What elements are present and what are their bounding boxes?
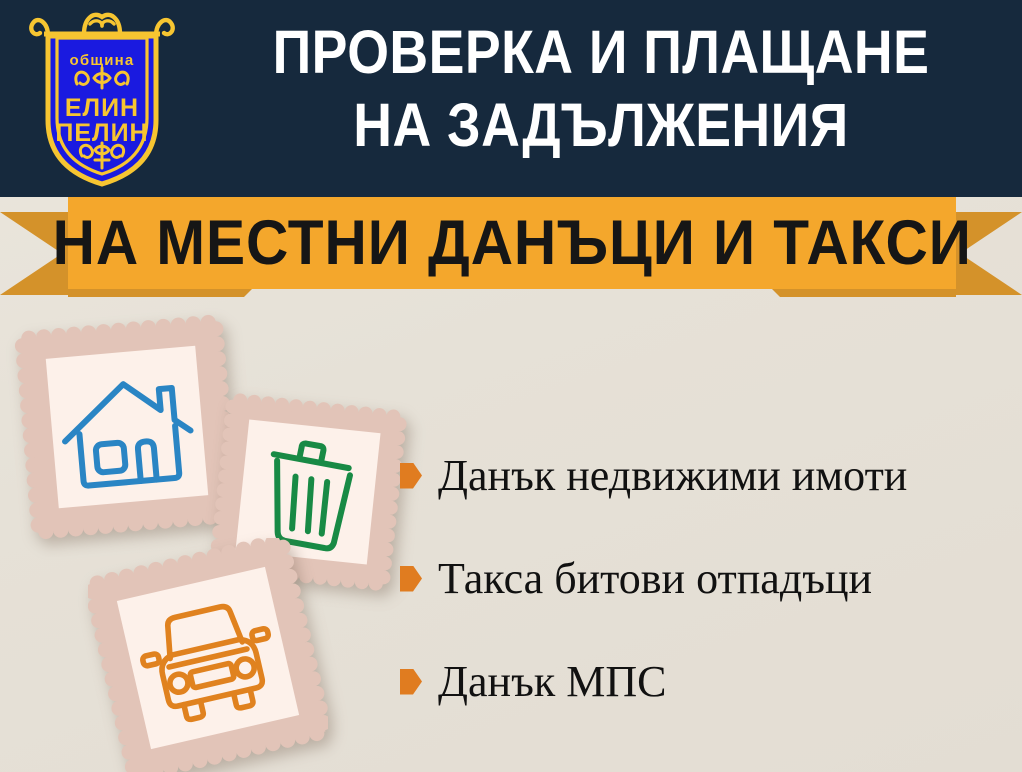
ribbon-banner: НА МЕСТНИ ДАНЪЦИ И ТАКСИ: [0, 197, 1022, 301]
ribbon-face: НА МЕСТНИ ДАНЪЦИ И ТАКСИ: [68, 197, 956, 289]
list-item-label: Данък МПС: [438, 658, 666, 706]
page-title: ПРОВЕРКА И ПЛАЩАНЕ НА ЗАДЪЛЖЕНИЯ: [231, 16, 972, 162]
list-item-label: Такса битови отпадъци: [438, 555, 872, 603]
coat-of-arms-icon: община ЕЛИН ПЕЛИН: [22, 8, 182, 190]
arrow-bullet-icon: [400, 669, 422, 695]
list-item[interactable]: Данък недвижими имоти: [400, 424, 1010, 527]
crest-line1: община: [70, 52, 135, 69]
crest-line2: ЕЛИН: [65, 94, 139, 122]
list-item[interactable]: Такса битови отпадъци: [400, 527, 1010, 630]
list-item[interactable]: Данък МПС: [400, 630, 1010, 733]
ribbon-subtitle: НА МЕСТНИ ДАНЪЦИ И ТАКСИ: [52, 212, 971, 275]
tax-type-list: Данък недвижими имоти Такса битови отпад…: [400, 424, 1010, 733]
arrow-bullet-icon: [400, 566, 422, 592]
arrow-bullet-icon: [400, 463, 422, 489]
stamp-card-car: [88, 538, 328, 772]
list-item-label: Данък недвижими имоти: [438, 452, 907, 500]
poster-root: община ЕЛИН ПЕЛИН ПРОВЕРКА И ПЛАЩАНЕ НА …: [0, 0, 1022, 772]
